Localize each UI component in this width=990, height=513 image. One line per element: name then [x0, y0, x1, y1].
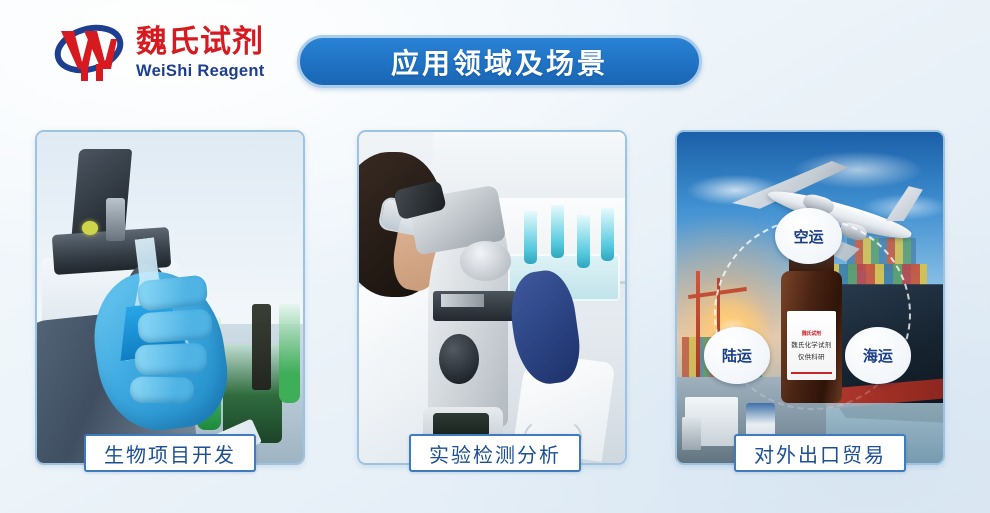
glove-finger [130, 376, 194, 404]
reagent-bottle: 魏氏试剂 魏氏化学试剂 仅供科研 [778, 251, 845, 403]
microscope-focus-knob [439, 334, 479, 384]
brand-logo-text: 魏氏试剂 WeiShi Reagent [136, 27, 265, 80]
microscope-turret [460, 241, 511, 281]
header: 魏氏试剂 WeiShi Reagent 应用领域及场景 [0, 0, 990, 118]
slide-root: 魏氏试剂 WeiShi Reagent 应用领域及场景 [0, 0, 990, 513]
brand-name-en: WeiShi Reagent [136, 63, 265, 80]
bottle-label-line2: 仅供科研 [798, 351, 825, 361]
application-cards-row: 魏氏试剂 魏氏化学试剂 仅供科研 空运 陆运 海运 [0, 130, 990, 470]
caption-foreign-export-trade: 对外出口贸易 [734, 434, 906, 472]
card-foreign-export-trade[interactable]: 魏氏试剂 魏氏化学试剂 仅供科研 空运 陆运 海运 [675, 130, 945, 465]
glove-finger [137, 308, 213, 343]
section-title-banner: 应用领域及场景 [297, 35, 702, 88]
glove-finger [135, 343, 208, 375]
bottle-body: 魏氏试剂 魏氏化学试剂 仅供科研 [781, 271, 842, 403]
port-crane-mast [696, 271, 700, 384]
sample-vial [577, 215, 590, 268]
caption-3-label: 对外出口贸易 [754, 439, 886, 468]
card-1-photo [37, 132, 303, 463]
badge-air-freight-label: 空运 [794, 226, 824, 247]
badge-sea-freight-label: 海运 [863, 345, 893, 366]
caption-2-label: 实验检测分析 [429, 439, 561, 468]
page-title: 应用领域及场景 [391, 42, 608, 82]
bottle-label-brand: 魏氏试剂 [802, 330, 821, 337]
green-test-tube-2 [279, 304, 300, 403]
sample-vial [551, 205, 564, 258]
badge-air-freight: 空运 [775, 208, 842, 264]
bottle-label: 魏氏试剂 魏氏化学试剂 仅供科研 [787, 311, 836, 380]
sample-vial [601, 208, 614, 261]
caption-1-label: 生物项目开发 [104, 439, 236, 468]
card-lab-testing-analysis[interactable] [357, 130, 627, 465]
badge-sea-freight: 海运 [845, 327, 912, 383]
card-3-photo: 魏氏试剂 魏氏化学试剂 仅供科研 空运 陆运 海运 [677, 132, 943, 463]
caption-bio-project-development: 生物项目开发 [84, 434, 256, 472]
bottle-label-line1: 魏氏化学试剂 [791, 339, 831, 349]
bottle-label-rule [791, 372, 832, 374]
airplane-tail [886, 186, 923, 221]
sample-vial [524, 211, 537, 264]
badge-land-freight: 陆运 [704, 327, 771, 383]
microscope-objective [106, 198, 125, 241]
cargo-truck-1-cab [682, 417, 701, 450]
badge-land-freight-label: 陆运 [722, 345, 752, 366]
brand-name-cn: 魏氏试剂 [136, 27, 265, 58]
card-2-photo [359, 132, 625, 463]
specimen-slide [82, 221, 98, 234]
dropper-bottle [252, 304, 271, 390]
brand-logo: 魏氏试剂 WeiShi Reagent [52, 22, 265, 84]
caption-lab-testing-analysis: 实验检测分析 [409, 434, 581, 472]
card-bio-project-development[interactable] [35, 130, 305, 465]
weishi-w-logo-icon [52, 22, 126, 84]
microscope-slide [441, 294, 484, 307]
